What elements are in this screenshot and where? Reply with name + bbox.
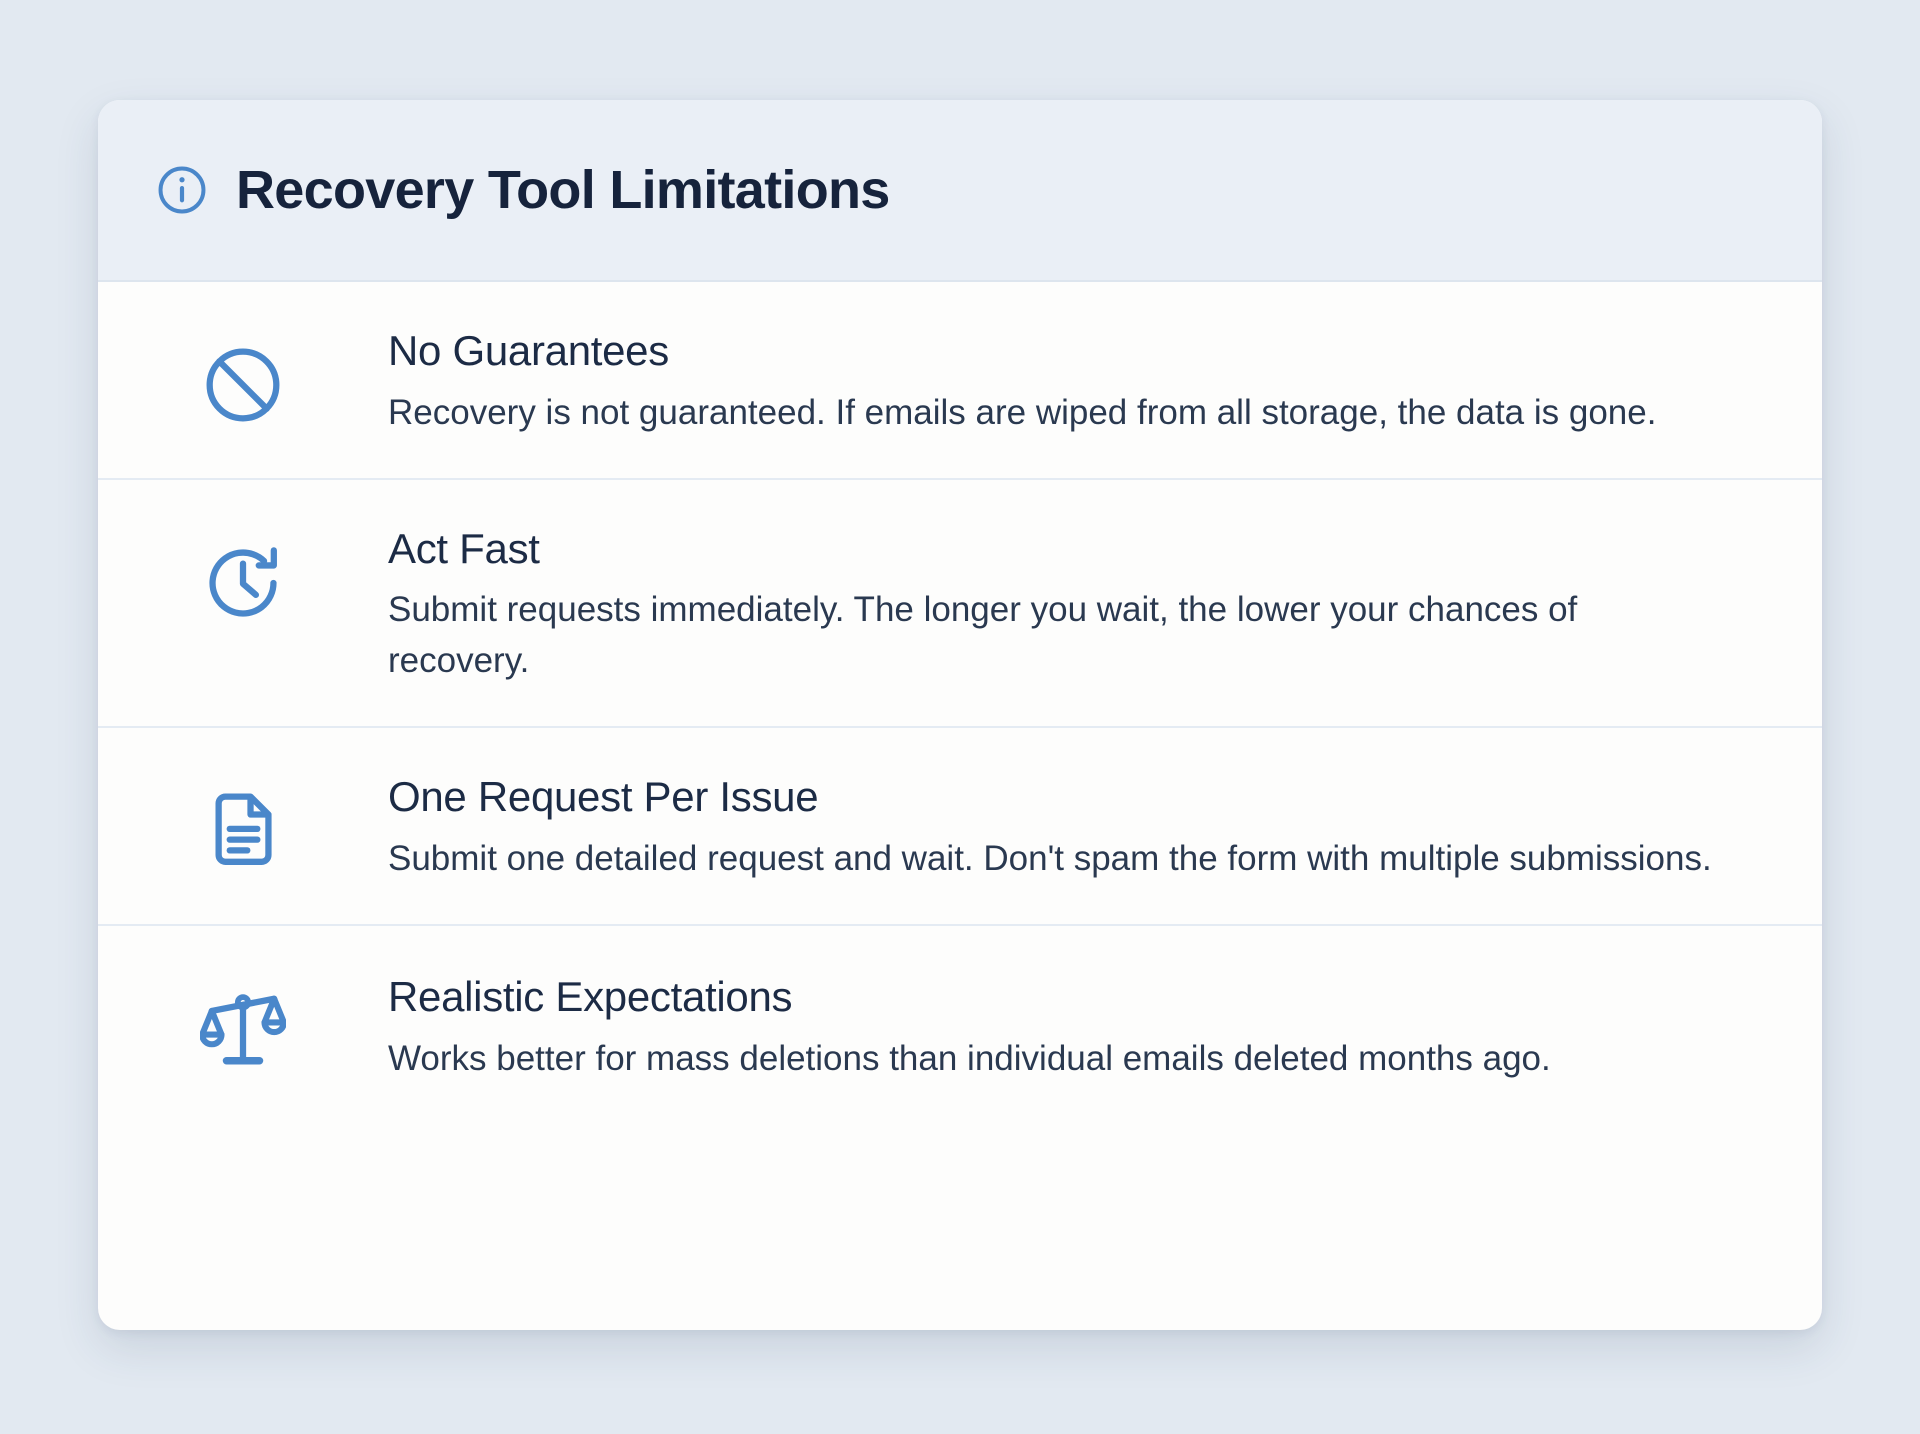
list-item-title: No Guarantees [388,326,1712,376]
row-text: Realistic Expectations Works better for … [388,972,1752,1084]
recovery-tool-limitations-card: Recovery Tool Limitations No Guarantees … [98,100,1822,1330]
list-item-description: Works better for mass deletions than ind… [388,1034,1712,1084]
info-circle-icon [154,162,210,218]
list-item-description: Submit requests immediately. The longer … [388,585,1712,686]
limitations-list: No Guarantees Recovery is not guaranteed… [98,282,1822,1330]
row-icon-cell [98,772,388,874]
row-text: No Guarantees Recovery is not guaranteed… [388,326,1752,438]
list-item: No Guarantees Recovery is not guaranteed… [98,282,1822,480]
row-icon-cell [98,326,388,428]
list-item-description: Submit one detailed request and wait. Do… [388,834,1712,884]
page-root: Recovery Tool Limitations No Guarantees … [0,0,1920,1434]
list-item-title: Realistic Expectations [388,972,1712,1022]
page-title: Recovery Tool Limitations [236,163,890,217]
row-text: One Request Per Issue Submit one detaile… [388,772,1752,884]
list-item: Realistic Expectations Works better for … [98,926,1822,1138]
row-text: Act Fast Submit requests immediately. Th… [388,524,1752,686]
document-lines-icon [200,788,286,874]
row-icon-cell [98,972,388,1074]
scales-icon [200,988,286,1074]
card-header: Recovery Tool Limitations [98,100,1822,282]
list-item: One Request Per Issue Submit one detaile… [98,728,1822,926]
list-item-title: One Request Per Issue [388,772,1712,822]
row-icon-cell [98,524,388,626]
list-item-title: Act Fast [388,524,1712,574]
ban-icon [200,342,286,428]
list-item: Act Fast Submit requests immediately. Th… [98,480,1822,728]
list-item-description: Recovery is not guaranteed. If emails ar… [388,388,1712,438]
clock-arrow-icon [200,540,286,626]
